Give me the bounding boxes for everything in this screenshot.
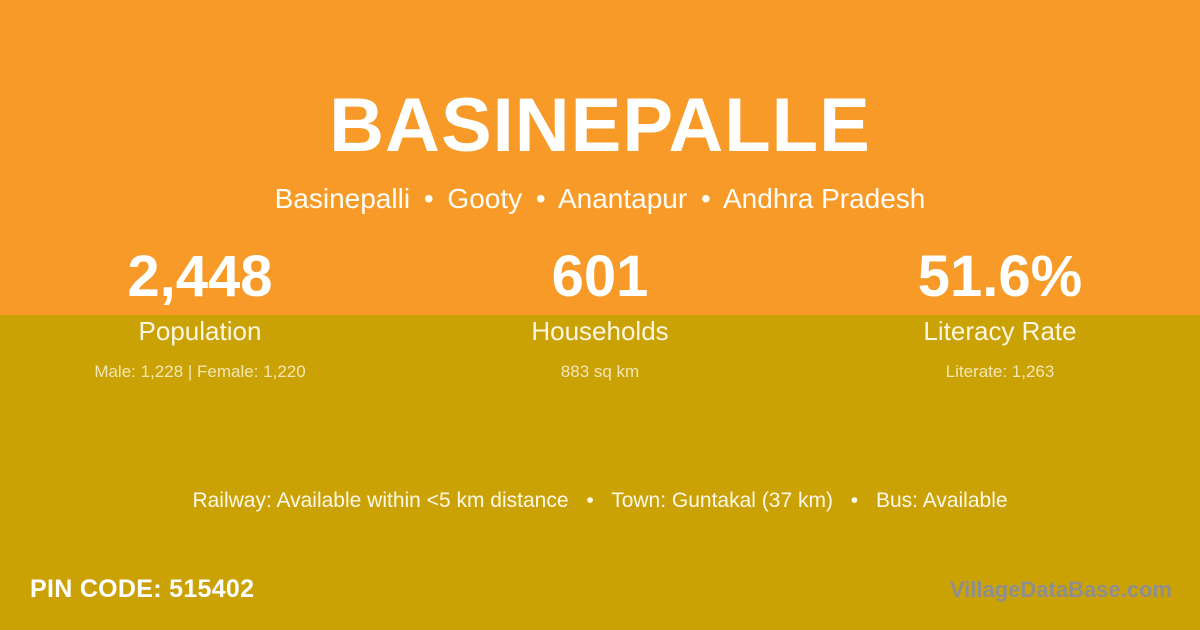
stat-label: Households	[400, 318, 800, 344]
facility-bus: Bus: Available	[876, 489, 1008, 512]
brand-watermark: VillageDataBase.com	[950, 577, 1172, 603]
page-title: BASINEPALLE	[0, 88, 1200, 164]
facility-separator: •	[839, 489, 870, 512]
stat-households: 601 Households 883 sq km	[400, 248, 800, 380]
breadcrumb-item-mandal: Gooty	[447, 183, 522, 214]
breadcrumb-item-village: Basinepalli	[275, 183, 410, 214]
facility-separator: •	[574, 489, 605, 512]
stats-row: 2,448 Population Male: 1,228 | Female: 1…	[0, 248, 1200, 380]
stat-value: 2,448	[0, 248, 400, 308]
facilities-row: Railway: Available within <5 km distance…	[0, 488, 1200, 513]
card-footer: PIN CODE: 515402 VillageDataBase.com	[0, 574, 1200, 620]
stat-sublabel: Male: 1,228 | Female: 1,220	[0, 363, 400, 380]
facility-railway: Railway: Available within <5 km distance	[192, 489, 568, 512]
stat-sublabel: Literate: 1,263	[800, 363, 1200, 380]
facility-town: Town: Guntakal (37 km)	[611, 489, 833, 512]
breadcrumb-item-district: Anantapur	[558, 183, 687, 214]
breadcrumb-separator: •	[695, 183, 717, 214]
breadcrumb: Basinepalli • Gooty • Anantapur • Andhra…	[0, 181, 1200, 217]
stat-value: 51.6%	[800, 248, 1200, 308]
stat-label: Population	[0, 318, 400, 344]
village-info-card: BASINEPALLE Basinepalli • Gooty • Ananta…	[0, 0, 1200, 630]
stat-sublabel: 883 sq km	[400, 363, 800, 380]
breadcrumb-separator: •	[530, 183, 552, 214]
stat-population: 2,448 Population Male: 1,228 | Female: 1…	[0, 248, 400, 380]
breadcrumb-item-state: Andhra Pradesh	[723, 183, 925, 214]
stat-value: 601	[400, 248, 800, 308]
stat-label: Literacy Rate	[800, 318, 1200, 344]
breadcrumb-separator: •	[418, 183, 440, 214]
pin-code: PIN CODE: 515402	[30, 574, 254, 604]
stat-literacy-rate: 51.6% Literacy Rate Literate: 1,263	[800, 248, 1200, 380]
